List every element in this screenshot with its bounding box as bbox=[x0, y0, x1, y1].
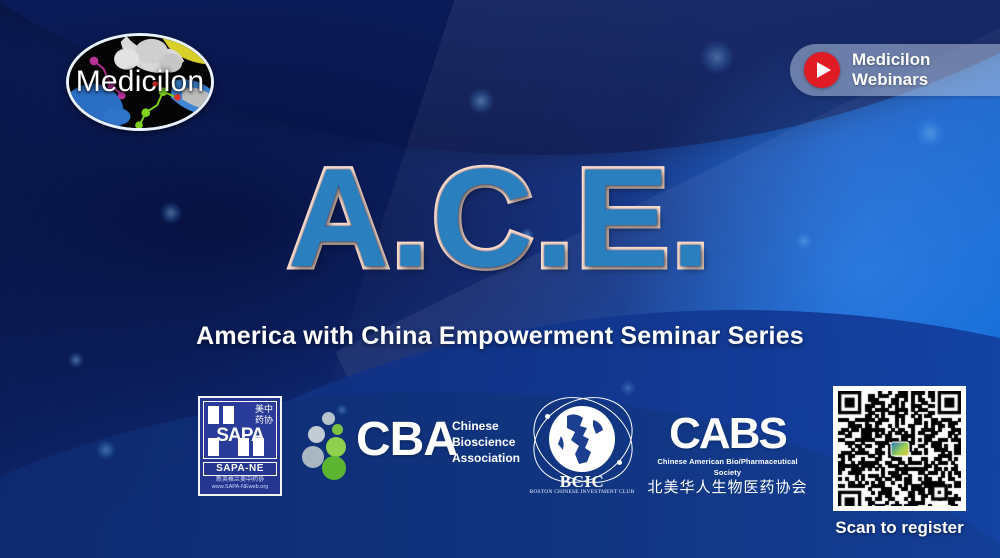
bcic-logo[interactable]: BCIC BOSTON CHINESE INVESTMENT CLUB bbox=[523, 394, 641, 498]
qr-register-block[interactable]: Scan to register bbox=[833, 386, 966, 546]
bokeh-dot bbox=[915, 118, 945, 148]
globe-continents-icon bbox=[549, 406, 615, 472]
bokeh-dot bbox=[468, 88, 494, 114]
cba-logo[interactable]: CBA Chinese Bioscience Association bbox=[300, 410, 515, 482]
logo-oval: Medicilon bbox=[66, 33, 214, 131]
qr-caption: Scan to register bbox=[833, 518, 966, 538]
webinar-pill-text: Medicilon Webinars bbox=[852, 50, 930, 90]
play-icon[interactable] bbox=[804, 52, 840, 88]
page-subtitle: America with China Empowerment Seminar S… bbox=[0, 322, 1000, 351]
webinar-pill-line1: Medicilon bbox=[852, 50, 930, 69]
cabs-chinese: 北美华人生物医药协会 bbox=[645, 478, 810, 497]
qr-center-logo-icon bbox=[890, 441, 909, 456]
cba-acronym: CBA bbox=[356, 414, 457, 466]
webinar-banner: Medicilon Medicilon Webinars A.C.E. Amer… bbox=[0, 0, 1000, 558]
sapa-url[interactable]: www.SAPA-NEweb.org bbox=[203, 484, 277, 491]
sapa-emblem: 美中药协 SAPA bbox=[203, 401, 277, 459]
sapa-chapter: SAPA-NE bbox=[203, 462, 277, 476]
medicilon-logo-label: Medicilon bbox=[69, 36, 211, 128]
bokeh-dot bbox=[68, 352, 84, 368]
medicilon-logo[interactable]: Medicilon bbox=[66, 33, 214, 131]
bokeh-dot bbox=[700, 40, 734, 74]
orbit-node-icon bbox=[617, 460, 622, 465]
cabs-acronym: CABS bbox=[645, 412, 810, 456]
sapa-chinese-label: 美中药协 bbox=[255, 405, 273, 427]
sapa-logo[interactable]: 美中药协 SAPA SAPA-NE 新英格兰美中药协 www.SAPA-NEwe… bbox=[198, 396, 282, 496]
cba-fullname: Chinese Bioscience Association bbox=[452, 418, 520, 466]
qr-code[interactable] bbox=[833, 386, 966, 511]
orbit-node-icon bbox=[545, 414, 550, 419]
globe-icon bbox=[549, 406, 615, 472]
sapa-acronym: SAPA bbox=[204, 426, 276, 445]
cba-line3: Association bbox=[452, 450, 520, 466]
bcic-fullname: BOSTON CHINESE INVESTMENT CLUB bbox=[523, 489, 641, 495]
page-title: A.C.E. bbox=[0, 148, 1000, 288]
cabs-fullname: Chinese American Bio/Pharmaceutical Soci… bbox=[645, 456, 810, 478]
webinar-pill-line2: Webinars bbox=[852, 70, 928, 89]
medicilon-webinars-button[interactable]: Medicilon Webinars bbox=[790, 44, 1000, 96]
cba-line2: Bioscience bbox=[452, 434, 520, 450]
partner-logos-row: 美中药协 SAPA SAPA-NE 新英格兰美中药协 www.SAPA-NEwe… bbox=[190, 392, 810, 504]
sapa-chinese-sub: 新英格兰美中药协 bbox=[203, 476, 277, 484]
cba-dots-icon bbox=[300, 412, 358, 480]
cabs-logo[interactable]: CABS Chinese American Bio/Pharmaceutical… bbox=[645, 412, 810, 484]
bokeh-dot bbox=[96, 440, 116, 460]
cba-line1: Chinese bbox=[452, 418, 520, 434]
